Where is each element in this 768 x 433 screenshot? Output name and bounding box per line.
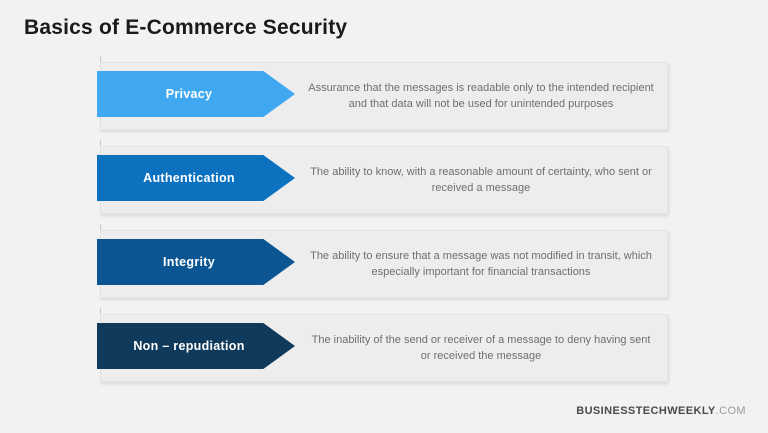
security-basics-list: Privacy Assurance that the messages is r… xyxy=(0,62,768,398)
chevron-label-authentication[interactable]: Authentication xyxy=(97,155,295,201)
row-description: The ability to know, with a reasonable a… xyxy=(303,146,659,214)
row-description: The inability of the send or receiver of… xyxy=(303,314,659,382)
chevron-label-privacy[interactable]: Privacy xyxy=(97,71,295,117)
watermark-brand: BUSINESSTECHWEEKLY xyxy=(576,405,715,417)
list-item: Non – repudiation The inability of the s… xyxy=(0,314,768,382)
site-watermark: BUSINESSTECHWEEKLY.COM xyxy=(576,405,746,417)
slide: Basics of E-Commerce Security Privacy As… xyxy=(0,0,768,433)
row-description: The ability to ensure that a message was… xyxy=(303,230,659,298)
list-item: Privacy Assurance that the messages is r… xyxy=(0,62,768,130)
row-description: Assurance that the messages is readable … xyxy=(303,62,659,130)
chevron-label-non-repudiation[interactable]: Non – repudiation xyxy=(97,323,295,369)
page-title: Basics of E-Commerce Security xyxy=(24,16,347,40)
list-item: Authentication The ability to know, with… xyxy=(0,146,768,214)
chevron-label-integrity[interactable]: Integrity xyxy=(97,239,295,285)
list-item: Integrity The ability to ensure that a m… xyxy=(0,230,768,298)
watermark-tld: .COM xyxy=(716,405,746,417)
